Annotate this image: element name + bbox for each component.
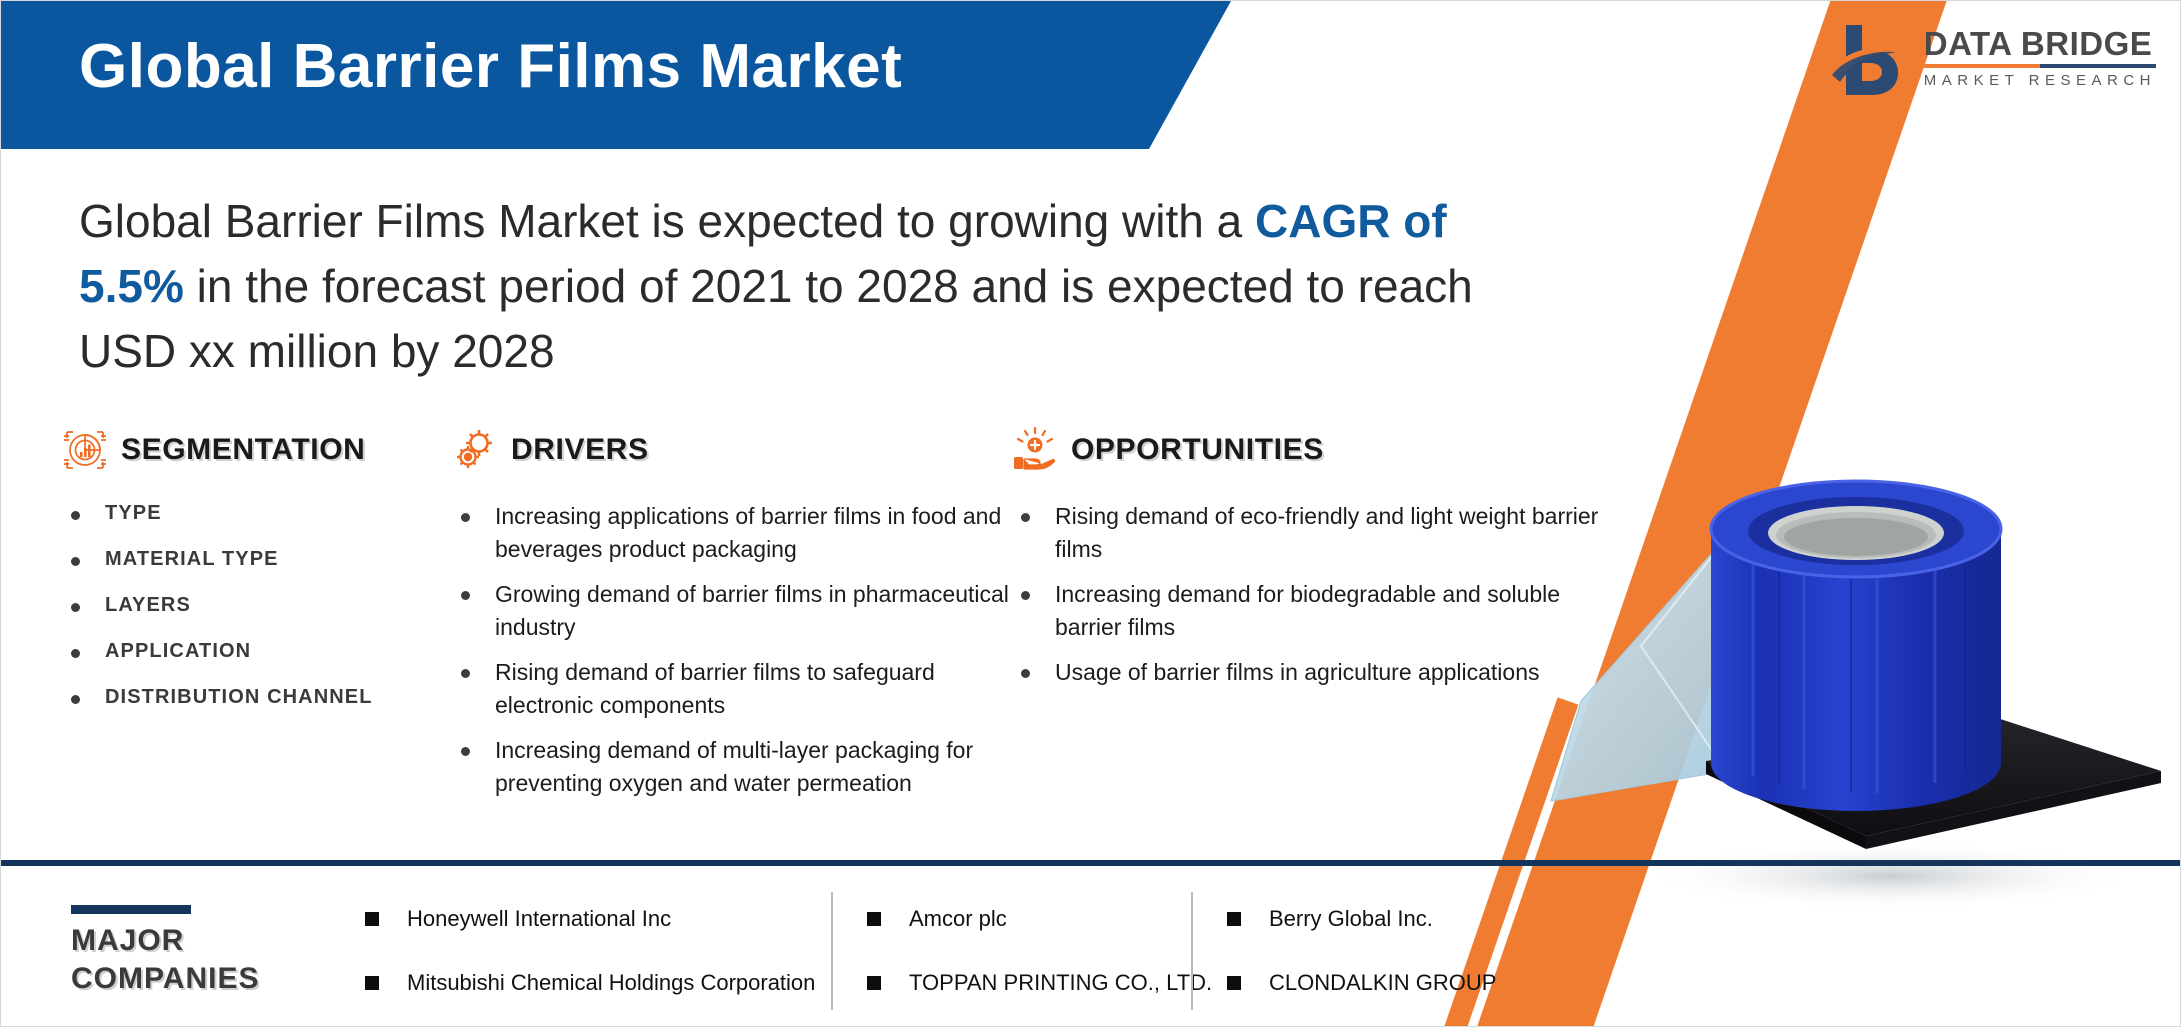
list-item: TYPE <box>61 500 451 526</box>
major-companies-label-line1: MAJOR <box>71 922 331 960</box>
company-name: Berry Global Inc. <box>1269 906 1433 932</box>
brand-logo: DATA BRIDGE MARKET RESEARCH <box>1826 19 2156 97</box>
major-companies-label-block: MAJOR COMPANIES <box>1 905 331 998</box>
section-header-drivers: DRIVERS <box>451 426 1011 474</box>
list-item: Growing demand of barrier films in pharm… <box>451 578 1011 644</box>
company-column-3: Berry Global Inc. CLONDALKIN GROUP <box>1191 892 1551 1010</box>
company-name: Amcor plc <box>909 906 1007 932</box>
section-title-opportunities: OPPORTUNITIES <box>1071 433 1324 467</box>
segmentation-list: TYPE MATERIAL TYPE LAYERS APPLICATION DI… <box>61 500 451 710</box>
infographic-root: Global Barrier Films Market DATA BRIDGE … <box>0 0 2181 1027</box>
section-header-opportunities: OPPORTUNITIES <box>1011 426 1621 474</box>
list-item: Rising demand of barrier films to safegu… <box>451 656 1011 722</box>
list-item: Usage of barrier films in agriculture ap… <box>1011 656 1621 689</box>
square-bullet-icon <box>867 912 881 926</box>
logo-secondary-text: MARKET RESEARCH <box>1924 72 2156 89</box>
list-item: MATERIAL TYPE <box>61 546 451 572</box>
section-title-segmentation: SEGMENTATION <box>121 433 365 467</box>
list-item: Honeywell International Inc <box>365 906 803 932</box>
pie-chart-analytics-icon <box>61 426 109 474</box>
square-bullet-icon <box>1227 976 1241 990</box>
major-accent-bar <box>71 905 191 914</box>
company-name: TOPPAN PRINTING CO., LTD. <box>909 970 1212 996</box>
headline: Global Barrier Films Market is expected … <box>79 189 1479 384</box>
list-item: APPLICATION <box>61 638 451 664</box>
section-title-drivers: DRIVERS <box>511 433 649 467</box>
gears-icon <box>451 426 499 474</box>
list-item: Amcor plc <box>867 906 1163 932</box>
list-item: DISTRIBUTION CHANNEL <box>61 684 451 710</box>
column-segmentation: SEGMENTATION TYPE MATERIAL TYPE LAYERS A… <box>61 426 451 812</box>
square-bullet-icon <box>1227 912 1241 926</box>
company-name: Mitsubishi Chemical Holdings Corporation <box>407 970 815 996</box>
square-bullet-icon <box>867 976 881 990</box>
list-item: Rising demand of eco-friendly and light … <box>1011 500 1621 566</box>
opportunities-list: Rising demand of eco-friendly and light … <box>1011 500 1621 689</box>
column-drivers: DRIVERS Increasing applications of barri… <box>451 426 1011 812</box>
column-opportunities: OPPORTUNITIES Rising demand of eco-frien… <box>1011 426 1621 812</box>
logo-primary-text: DATA BRIDGE <box>1924 27 2156 62</box>
section-header-segmentation: SEGMENTATION <box>61 426 451 474</box>
page-title: Global Barrier Films Market <box>79 31 902 102</box>
square-bullet-icon <box>365 976 379 990</box>
list-item: TOPPAN PRINTING CO., LTD. <box>867 970 1163 996</box>
list-item: Mitsubishi Chemical Holdings Corporation <box>365 970 803 996</box>
company-column-1: Honeywell International Inc Mitsubishi C… <box>331 892 831 1010</box>
company-column-2: Amcor plc TOPPAN PRINTING CO., LTD. <box>831 892 1191 1010</box>
square-bullet-icon <box>365 912 379 926</box>
headline-part1: Global Barrier Films Market is expected … <box>79 195 1255 247</box>
data-bridge-b-mark-icon <box>1826 19 1910 97</box>
company-name: CLONDALKIN GROUP <box>1269 970 1496 996</box>
list-item: Berry Global Inc. <box>1227 906 1523 932</box>
major-companies-label-line2: COMPANIES <box>71 960 331 998</box>
footer-major-companies: MAJOR COMPANIES Honeywell International … <box>1 876 2181 1026</box>
list-item: Increasing demand of multi-layer packagi… <box>451 734 1011 800</box>
headline-part2: in the forecast period of 2021 to 2028 a… <box>79 260 1473 377</box>
logo-rule <box>1924 64 2156 68</box>
content-columns: SEGMENTATION TYPE MATERIAL TYPE LAYERS A… <box>61 426 1621 812</box>
hand-holding-plus-icon <box>1011 426 1059 474</box>
footer-divider <box>1 860 2181 866</box>
list-item: Increasing applications of barrier films… <box>451 500 1011 566</box>
list-item: CLONDALKIN GROUP <box>1227 970 1523 996</box>
company-name: Honeywell International Inc <box>407 906 671 932</box>
list-item: LAYERS <box>61 592 451 618</box>
list-item: Increasing demand for biodegradable and … <box>1011 578 1621 644</box>
drivers-list: Increasing applications of barrier films… <box>451 500 1011 800</box>
